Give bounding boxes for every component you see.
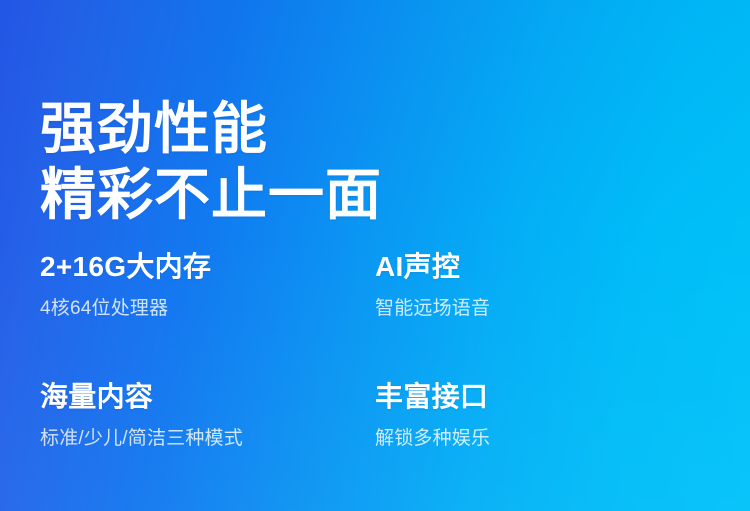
feature-grid: 2+16G大内存 4核64位处理器 AI声控 智能远场语音 海量内容 标准/少儿… [40, 250, 712, 510]
feature-subtitle: 标准/少儿/简洁三种模式 [40, 426, 375, 452]
headline-line-1: 强劲性能 [40, 96, 382, 162]
feature-item-memory: 2+16G大内存 4核64位处理器 [40, 250, 375, 380]
feature-item-content-library: 海量内容 标准/少儿/简洁三种模式 [40, 380, 375, 510]
feature-item-ports: 丰富接口 解锁多种娱乐 [375, 380, 710, 510]
feature-title: 丰富接口 [375, 380, 710, 414]
feature-title: 2+16G大内存 [40, 250, 375, 284]
promo-banner: 强劲性能 精彩不止一面 2+16G大内存 4核64位处理器 AI声控 智能远场语… [0, 0, 750, 511]
feature-title: 海量内容 [40, 380, 375, 414]
page-title: 强劲性能 精彩不止一面 [40, 96, 382, 228]
feature-subtitle: 解锁多种娱乐 [375, 426, 710, 452]
feature-item-voice-control: AI声控 智能远场语音 [375, 250, 710, 380]
feature-subtitle: 智能远场语音 [375, 296, 710, 322]
feature-title: AI声控 [375, 250, 710, 284]
banner-content: 强劲性能 精彩不止一面 2+16G大内存 4核64位处理器 AI声控 智能远场语… [0, 0, 750, 511]
headline-line-2: 精彩不止一面 [40, 162, 382, 228]
feature-subtitle: 4核64位处理器 [40, 296, 375, 322]
